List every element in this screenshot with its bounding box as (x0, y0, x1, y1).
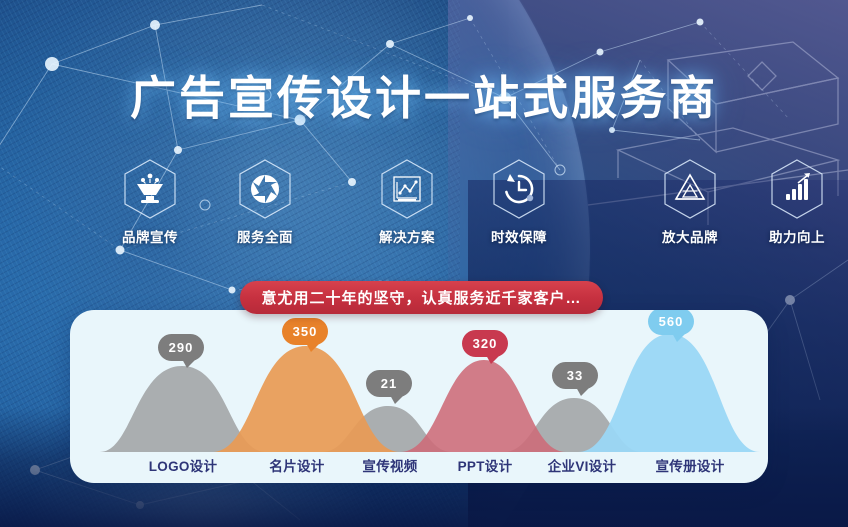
page-title: 广告宣传设计一站式服务商 (0, 62, 848, 128)
aperture-icon (236, 158, 294, 220)
bubble-tail (672, 333, 686, 342)
feature-label: 品牌宣传 (102, 226, 198, 246)
bubble-tail (306, 343, 320, 352)
bubble-tail (486, 355, 500, 364)
value-bubble-mingpian: 350 (282, 318, 328, 345)
feature-label: 服务全面 (217, 226, 313, 246)
value-label: 350 (293, 324, 318, 339)
chart-card: 290 350 21 320 (70, 310, 768, 483)
value-label: 320 (473, 336, 498, 351)
feature-item-amplify[interactable]: 放大品牌 (642, 158, 738, 246)
hill-ppt (400, 360, 566, 452)
feature-item-timeliness[interactable]: 时效保障 (471, 158, 567, 246)
value-bubble-ppt: 320 (462, 330, 508, 357)
hill-chart: 290 350 21 320 (70, 310, 768, 483)
value-label: 33 (567, 368, 583, 383)
bubble-tail (182, 359, 196, 368)
feature-item-growth[interactable]: 助力向上 (749, 158, 845, 246)
megaphone-trophy-icon (121, 158, 179, 220)
value-label: 21 (381, 376, 397, 391)
promo-banner: 广告宣传设计一站式服务商 品牌宣传 (0, 0, 848, 527)
tagline-text: 意尤用二十年的坚守，认真服务近千家客户… (261, 287, 581, 308)
feature-item-solution[interactable]: 解决方案 (359, 158, 455, 246)
feature-label: 助力向上 (749, 226, 845, 246)
value-label: 290 (169, 340, 194, 355)
axis-label-video: 宣传视频 (335, 455, 445, 475)
hill-mingpian (212, 346, 400, 452)
bubble-tail (390, 395, 404, 404)
feature-item-service[interactable]: 服务全面 (217, 158, 313, 246)
feature-item-brand[interactable]: 品牌宣传 (102, 158, 198, 246)
value-label: 560 (659, 314, 684, 329)
feature-label: 解决方案 (359, 226, 455, 246)
hill-brochure (578, 334, 760, 452)
bubble-tail (576, 387, 590, 396)
value-bubble-vi: 33 (552, 362, 598, 389)
line-chart-icon (378, 158, 436, 220)
category-axis: LOGO设计 名片设计 宣传视频 PPT设计 企业VI设计 宣传册设计 (70, 455, 768, 475)
clock-arrow-icon (490, 158, 548, 220)
triangle-icon (661, 158, 719, 220)
feature-icon-row: 品牌宣传 服务全面 (54, 158, 794, 250)
axis-label-logo: LOGO设计 (118, 455, 248, 475)
feature-label: 放大品牌 (642, 226, 738, 246)
bar-chart-arrow-icon (768, 158, 826, 220)
tagline-pill: 意尤用二十年的坚守，认真服务近千家客户… (240, 281, 603, 314)
axis-label-brochure: 宣传册设计 (615, 455, 765, 475)
value-bubble-video: 21 (366, 370, 412, 397)
value-bubble-brochure: 560 (648, 310, 694, 335)
feature-label: 时效保障 (471, 226, 567, 246)
value-bubble-logo: 290 (158, 334, 204, 361)
